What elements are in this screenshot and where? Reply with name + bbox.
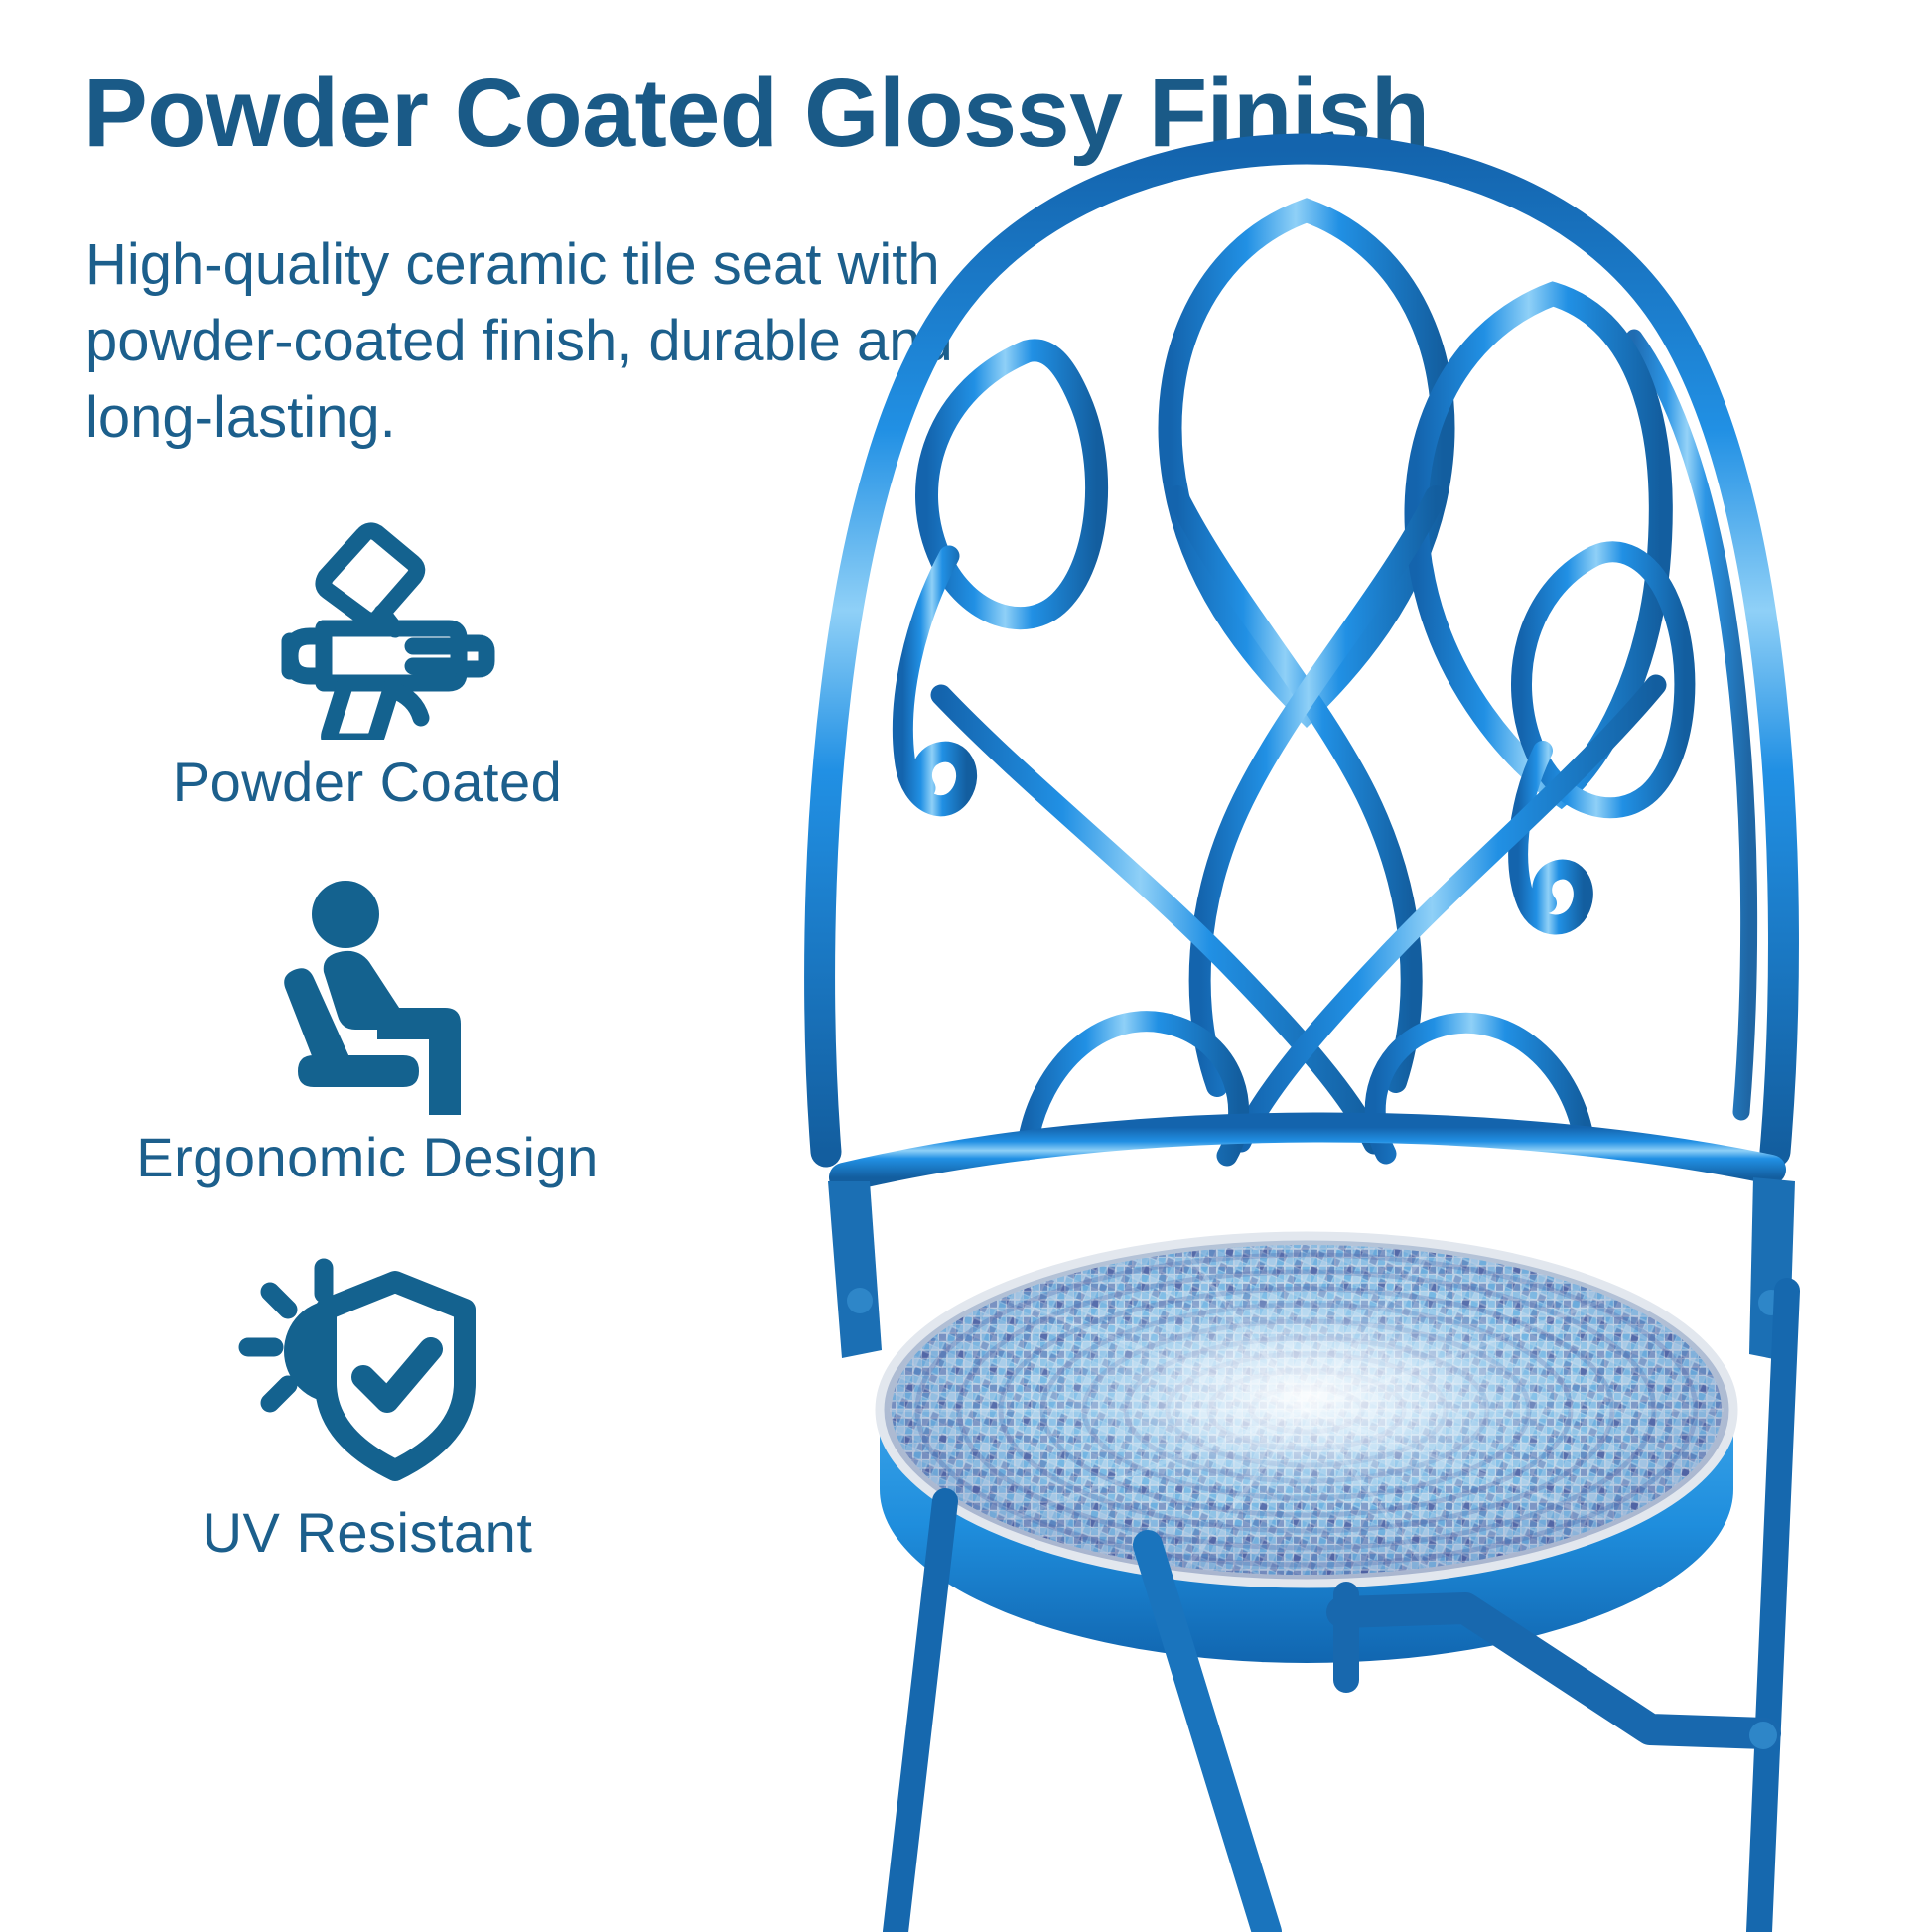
feature-label-uv-resistant: UV Resistant (60, 1500, 675, 1565)
spray-gun-icon (60, 501, 675, 740)
infographic-page: Powder Coated Glossy Finish High-quality… (0, 0, 1932, 1932)
feature-item-uv-resistant: UV Resistant (60, 1252, 675, 1627)
feature-item-powder-coated: Powder Coated (60, 501, 675, 877)
seated-person-icon (60, 877, 675, 1115)
product-photo-folding-bistro-chair (711, 0, 1932, 1932)
uv-shield-icon (60, 1252, 675, 1490)
feature-label-ergonomic-design: Ergonomic Design (60, 1125, 675, 1189)
feature-item-ergonomic-design: Ergonomic Design (60, 877, 675, 1252)
feature-list: Powder Coated (60, 501, 675, 1627)
feature-label-powder-coated: Powder Coated (60, 750, 675, 814)
